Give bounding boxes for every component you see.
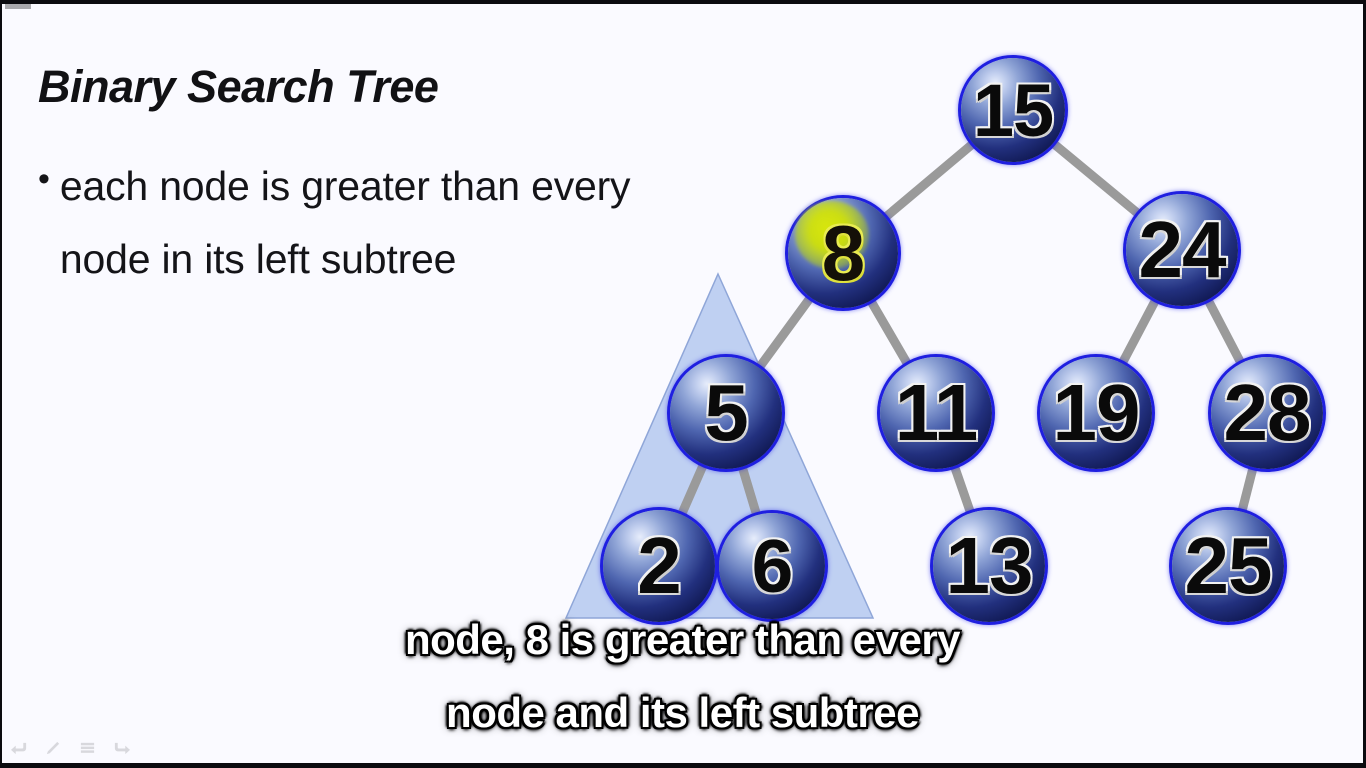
node-value-label: 6 xyxy=(752,523,793,609)
bullet-item-label: each node is greater than every node in … xyxy=(60,150,638,296)
tree-node-13[interactable]: 13 xyxy=(933,510,1045,622)
tree-node-5[interactable]: 5 xyxy=(670,357,782,469)
subtitle-caption: node, 8 is greater than every node and i… xyxy=(2,604,1363,749)
caption-line-2: node and its left subtree xyxy=(2,677,1363,750)
node-value-label: 28 xyxy=(1224,367,1311,459)
node-value-label: 15 xyxy=(973,68,1053,153)
page-title: Binary Search Tree xyxy=(38,61,438,113)
tree-edge-group xyxy=(659,110,1267,566)
pen-icon[interactable] xyxy=(44,740,63,757)
node-value-label: 8 xyxy=(822,208,864,299)
presentation-slide: Binary Search Tree • each node is greate… xyxy=(0,0,1366,768)
node-value-label: 24 xyxy=(1139,204,1226,296)
slideshow-toolbar[interactable] xyxy=(10,740,131,757)
node-value-label: 25 xyxy=(1185,520,1272,612)
tree-node-28[interactable]: 28 xyxy=(1211,357,1323,469)
caption-line-1: node, 8 is greater than every xyxy=(2,604,1363,677)
tree-node-15[interactable]: 15 xyxy=(961,58,1065,162)
node-value-label: 19 xyxy=(1053,367,1140,459)
top-left-marker xyxy=(5,4,31,9)
node-value-label: 13 xyxy=(946,520,1033,612)
node-value-label: 5 xyxy=(704,367,748,459)
tree-node-24[interactable]: 24 xyxy=(1126,194,1238,306)
previous-slide-icon[interactable] xyxy=(10,740,29,757)
tree-node-19[interactable]: 19 xyxy=(1040,357,1152,469)
tree-node-8[interactable]: 8 xyxy=(788,198,898,308)
menu-icon[interactable] xyxy=(78,740,97,757)
tree-node-25[interactable]: 25 xyxy=(1172,510,1284,622)
next-slide-icon[interactable] xyxy=(112,740,131,757)
node-value-label: 2 xyxy=(637,520,681,612)
tree-node-11[interactable]: 11 xyxy=(880,357,992,469)
node-value-label: 11 xyxy=(895,367,978,459)
bullet-dot-icon: • xyxy=(38,162,50,196)
bullet-item: • each node is greater than every node i… xyxy=(38,150,638,296)
